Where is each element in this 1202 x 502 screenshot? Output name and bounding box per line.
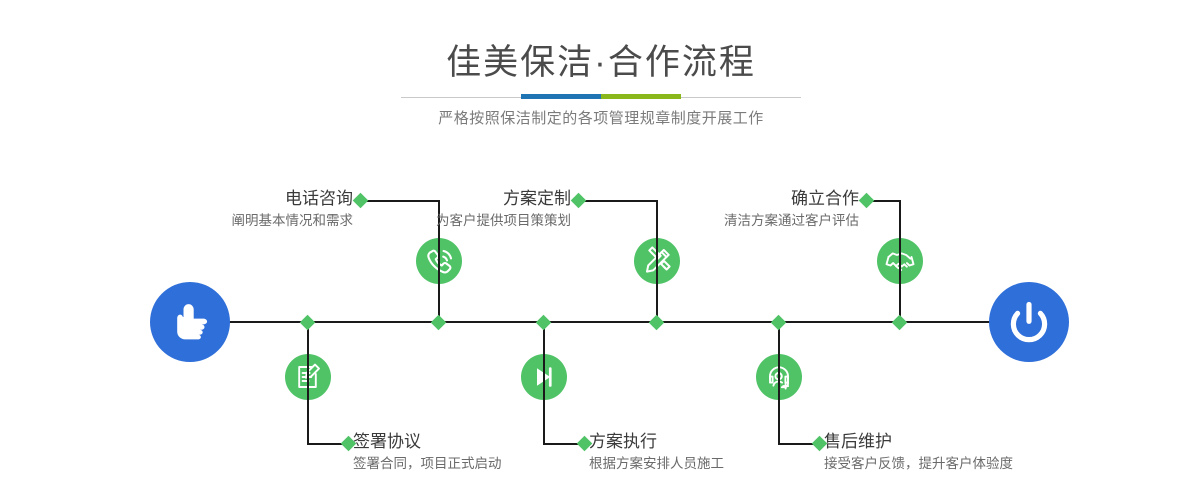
divider-segment-blue [521, 94, 601, 99]
connector-vline-after-sales [778, 322, 780, 444]
axis-dot-sign-agreement [300, 315, 316, 331]
connector-vline-sign-agreement [307, 322, 309, 444]
step-subtitle: 阐明基本情况和需求 [100, 212, 353, 230]
axis-dot-plan-execution [536, 315, 552, 331]
step-label-phone-consult: 电话咨询 阐明基本情况和需求 [100, 189, 353, 230]
step-title: 方案执行 [589, 432, 849, 452]
axis-dot-establish-cooperation [892, 315, 908, 331]
axis-dot-after-sales [771, 315, 787, 331]
connector-vline-plan-execution [543, 322, 545, 444]
step-label-plan-execution: 方案执行 根据方案安排人员施工 [589, 432, 849, 473]
timeline-start-marker [150, 282, 230, 362]
step-label-plan-customization: 方案定制 为客户提供项目策策划 [318, 189, 571, 230]
step-label-after-sales: 售后维护 接受客户反馈，提升客户体验度 [824, 432, 1114, 473]
step-subtitle: 签署合同，项目正式启动 [353, 455, 613, 473]
step-subtitle: 清洁方案通过客户评估 [606, 212, 859, 230]
step-label-sign-agreement: 签署协议 签署合同，项目正式启动 [353, 432, 613, 473]
process-flow-infographic: 佳美保洁·合作流程 严格按照保洁制定的各项管理规章制度开展工作 [0, 0, 1202, 502]
page-subtitle: 严格按照保洁制定的各项管理规章制度开展工作 [0, 107, 1202, 128]
pointing-hand-icon [150, 282, 230, 362]
power-icon [989, 282, 1069, 362]
step-title: 售后维护 [824, 432, 1114, 452]
step-subtitle: 根据方案安排人员施工 [589, 455, 849, 473]
connector-vline-establish-cooperation [899, 200, 901, 322]
step-title: 方案定制 [318, 189, 571, 209]
step-title: 确立合作 [606, 189, 859, 209]
connector-dot-establish-cooperation [859, 193, 875, 209]
timeline-end-marker [989, 282, 1069, 362]
page-title: 佳美保洁·合作流程 [0, 45, 1202, 80]
step-label-establish-cooperation: 确立合作 清洁方案通过客户评估 [606, 189, 859, 230]
step-title: 电话咨询 [100, 189, 353, 209]
title-divider [401, 94, 801, 100]
page-header: 佳美保洁·合作流程 [0, 0, 1202, 80]
connector-dot-plan-customization [571, 193, 587, 209]
divider-segment-green [601, 94, 681, 99]
axis-dot-plan-customization [649, 315, 665, 331]
step-subtitle: 接受客户反馈，提升客户体验度 [824, 455, 1114, 473]
step-title: 签署协议 [353, 432, 613, 452]
step-subtitle: 为客户提供项目策策划 [318, 212, 571, 230]
axis-dot-phone-consult [431, 315, 447, 331]
